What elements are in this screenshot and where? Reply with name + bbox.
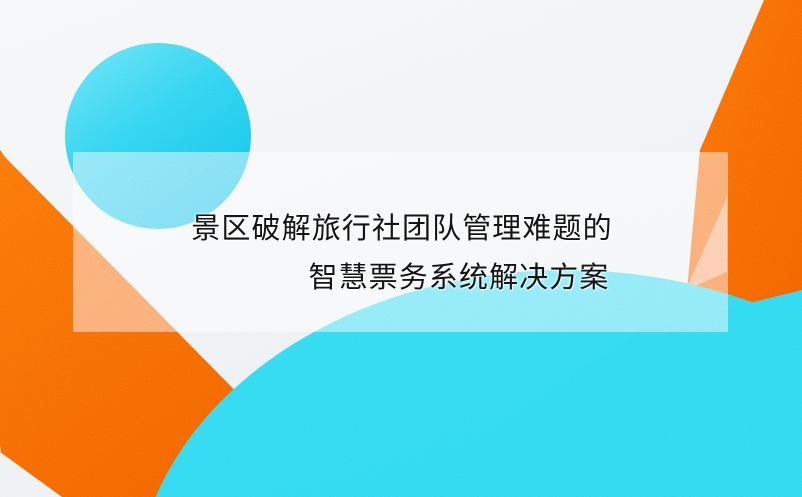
poster-canvas: 景区破解旅行社团队管理难题的 智慧票务系统解决方案 xyxy=(0,0,802,497)
geometric-artwork xyxy=(0,0,802,497)
cyan-circle-decor xyxy=(65,43,251,229)
